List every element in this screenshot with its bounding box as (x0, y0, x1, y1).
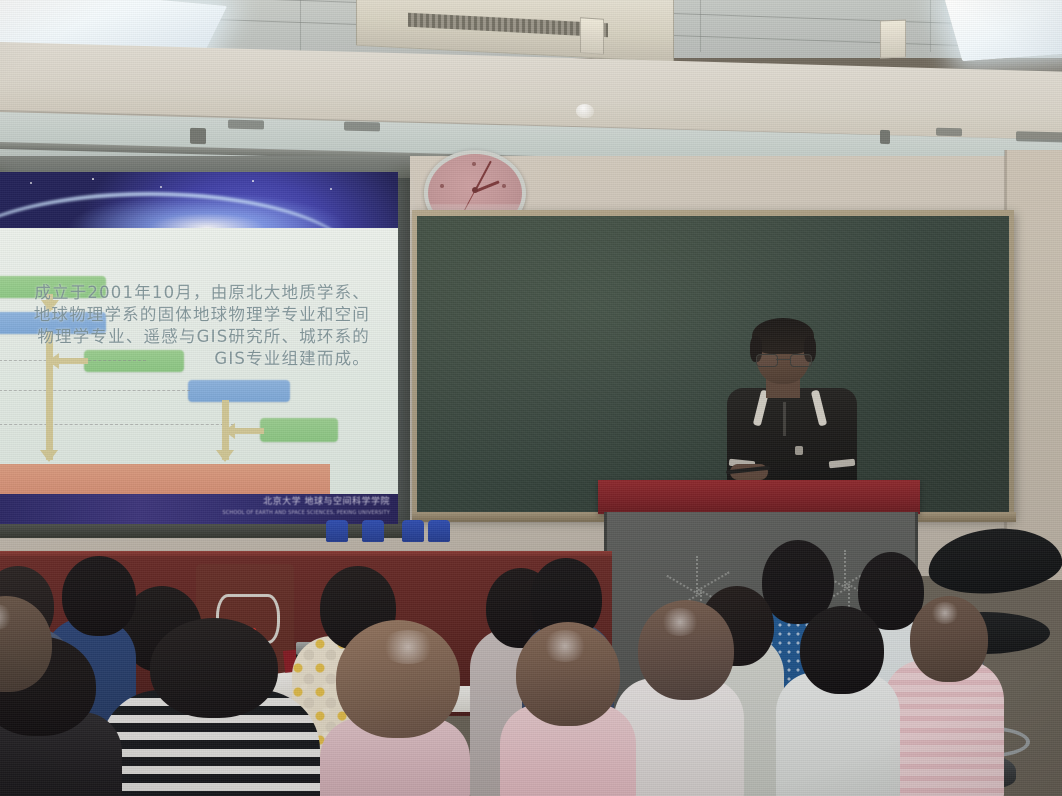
slide-space-banner (0, 172, 398, 230)
slide-footer-en: SCHOOL OF EARTH AND SPACE SCIENCES, PEKI… (222, 508, 390, 519)
ac-vent-right (880, 20, 906, 59)
track-mount (880, 130, 890, 144)
diagram-arrowhead-down (216, 450, 234, 462)
diagram-box-blue-2 (188, 380, 290, 402)
ac-vent-left (580, 17, 604, 55)
audience-head-highlight (380, 630, 436, 664)
slide-footer-logo: 北京大学 地球与空间科学学院 SCHOOL OF EARTH AND SPACE… (222, 497, 390, 519)
slide-footer-cn: 北京大学 地球与空间科学学院 (222, 497, 390, 508)
diagram-arrowhead-left (224, 423, 235, 439)
slide-content-area: 成立于2001年10月，由原北大地质学系、地球物理学系的固体地球物理学专业和空间… (0, 228, 398, 494)
star-icon (160, 186, 162, 188)
diagram-foundation-bar (0, 464, 330, 498)
speaker-shirt-logo (795, 446, 803, 455)
ceiling-speaker (1016, 131, 1062, 143)
speaker-glasses (756, 354, 810, 365)
audience-head-highlight (930, 602, 960, 624)
clock-mark (502, 184, 506, 188)
projection-screen-bottom-bar (0, 524, 410, 538)
chair-back-blue (428, 520, 450, 542)
star-icon (330, 188, 332, 190)
audience-head (800, 606, 884, 694)
projected-slide: 成立于2001年10月，由原北大地质学系、地球物理学系的固体地球物理学专业和空间… (0, 172, 398, 524)
diagram-arrowhead-down (40, 450, 58, 462)
blackboard (412, 210, 1014, 520)
speaker-shirt-placket (783, 402, 786, 436)
clock-mark (440, 184, 444, 188)
audience-head (62, 556, 136, 636)
ceiling-smoke-detector-icon (576, 104, 594, 118)
blackboard-chalk-dust (417, 216, 1009, 514)
lecture-hall-photo: 成立于2001年10月，由原北大地质学系、地球物理学系的固体地球物理学专业和空间… (0, 0, 1062, 796)
clock-center-pin (472, 187, 478, 193)
glasses-bridge (776, 359, 790, 360)
ceiling-light-panel-right (945, 0, 1062, 61)
diagram-dashed-line (0, 424, 234, 425)
ceiling-speaker (344, 122, 380, 132)
audience-head (150, 618, 278, 718)
chair-back-blue (402, 520, 424, 542)
speaker-sleeve-trim-right (829, 459, 856, 469)
ceiling-speaker (228, 120, 264, 130)
ceiling-tile-seam (300, 0, 301, 52)
diagram-box-green-3 (260, 418, 338, 442)
ceiling-tile-seam (930, 0, 931, 52)
star-icon (92, 178, 94, 180)
glasses-lens-left (756, 354, 778, 367)
glasses-lens-right (790, 354, 812, 367)
star-icon (252, 180, 254, 182)
audience-head-highlight (542, 630, 588, 662)
podium-top (598, 480, 920, 514)
slide-body-text: 成立于2001年10月，由原北大地质学系、地球物理学系的固体地球物理学专业和空间… (18, 282, 370, 370)
diagram-arrow-left (232, 428, 264, 434)
blackboard-surface (417, 216, 1009, 514)
audience-head-highlight (660, 608, 700, 636)
clock-mark (472, 162, 476, 166)
speaker-collar-right (811, 390, 827, 427)
diagram-dashed-line (0, 390, 190, 391)
star-icon (30, 182, 32, 184)
chair-back-blue (362, 520, 384, 542)
ceiling-tile-seam (700, 0, 701, 52)
chair-back-blue (326, 520, 348, 542)
track-mount (190, 128, 206, 144)
ceiling-speaker (936, 128, 962, 137)
